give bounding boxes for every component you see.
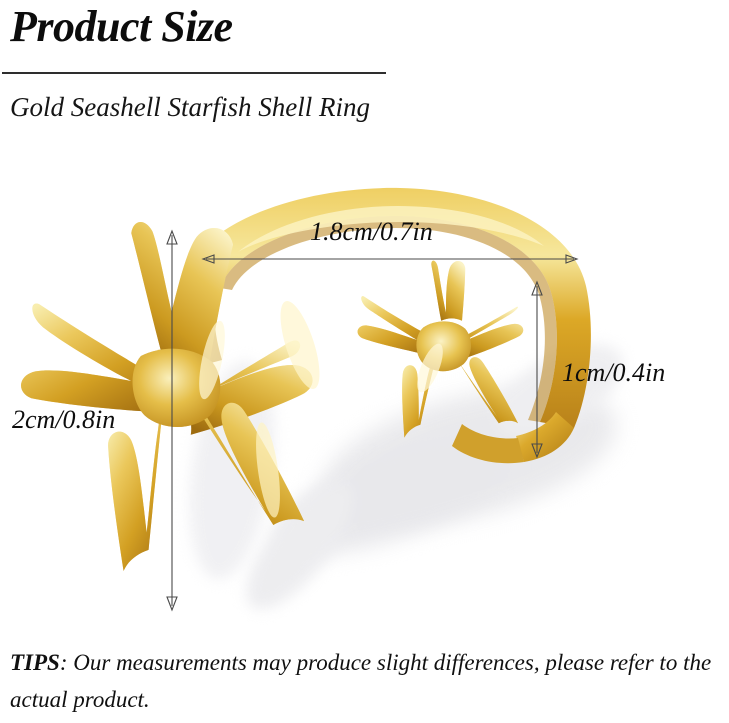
page-title: Product Size <box>10 2 233 53</box>
tips-label: TIPS <box>10 650 60 675</box>
title-divider <box>2 72 386 74</box>
tips-note: TIPS: Our measurements may produce sligh… <box>10 644 722 719</box>
tips-separator: : <box>60 650 73 675</box>
dimension-label-width: 1.8cm/0.7in <box>310 217 433 247</box>
product-subtitle: Gold Seashell Starfish Shell Ring <box>10 92 370 123</box>
dimension-label-depth: 1cm/0.4in <box>562 358 665 388</box>
dimension-label-height: 2cm/0.8in <box>12 405 115 435</box>
small-starfish <box>342 244 550 468</box>
tips-text: Our measurements may produce slight diff… <box>10 650 711 712</box>
